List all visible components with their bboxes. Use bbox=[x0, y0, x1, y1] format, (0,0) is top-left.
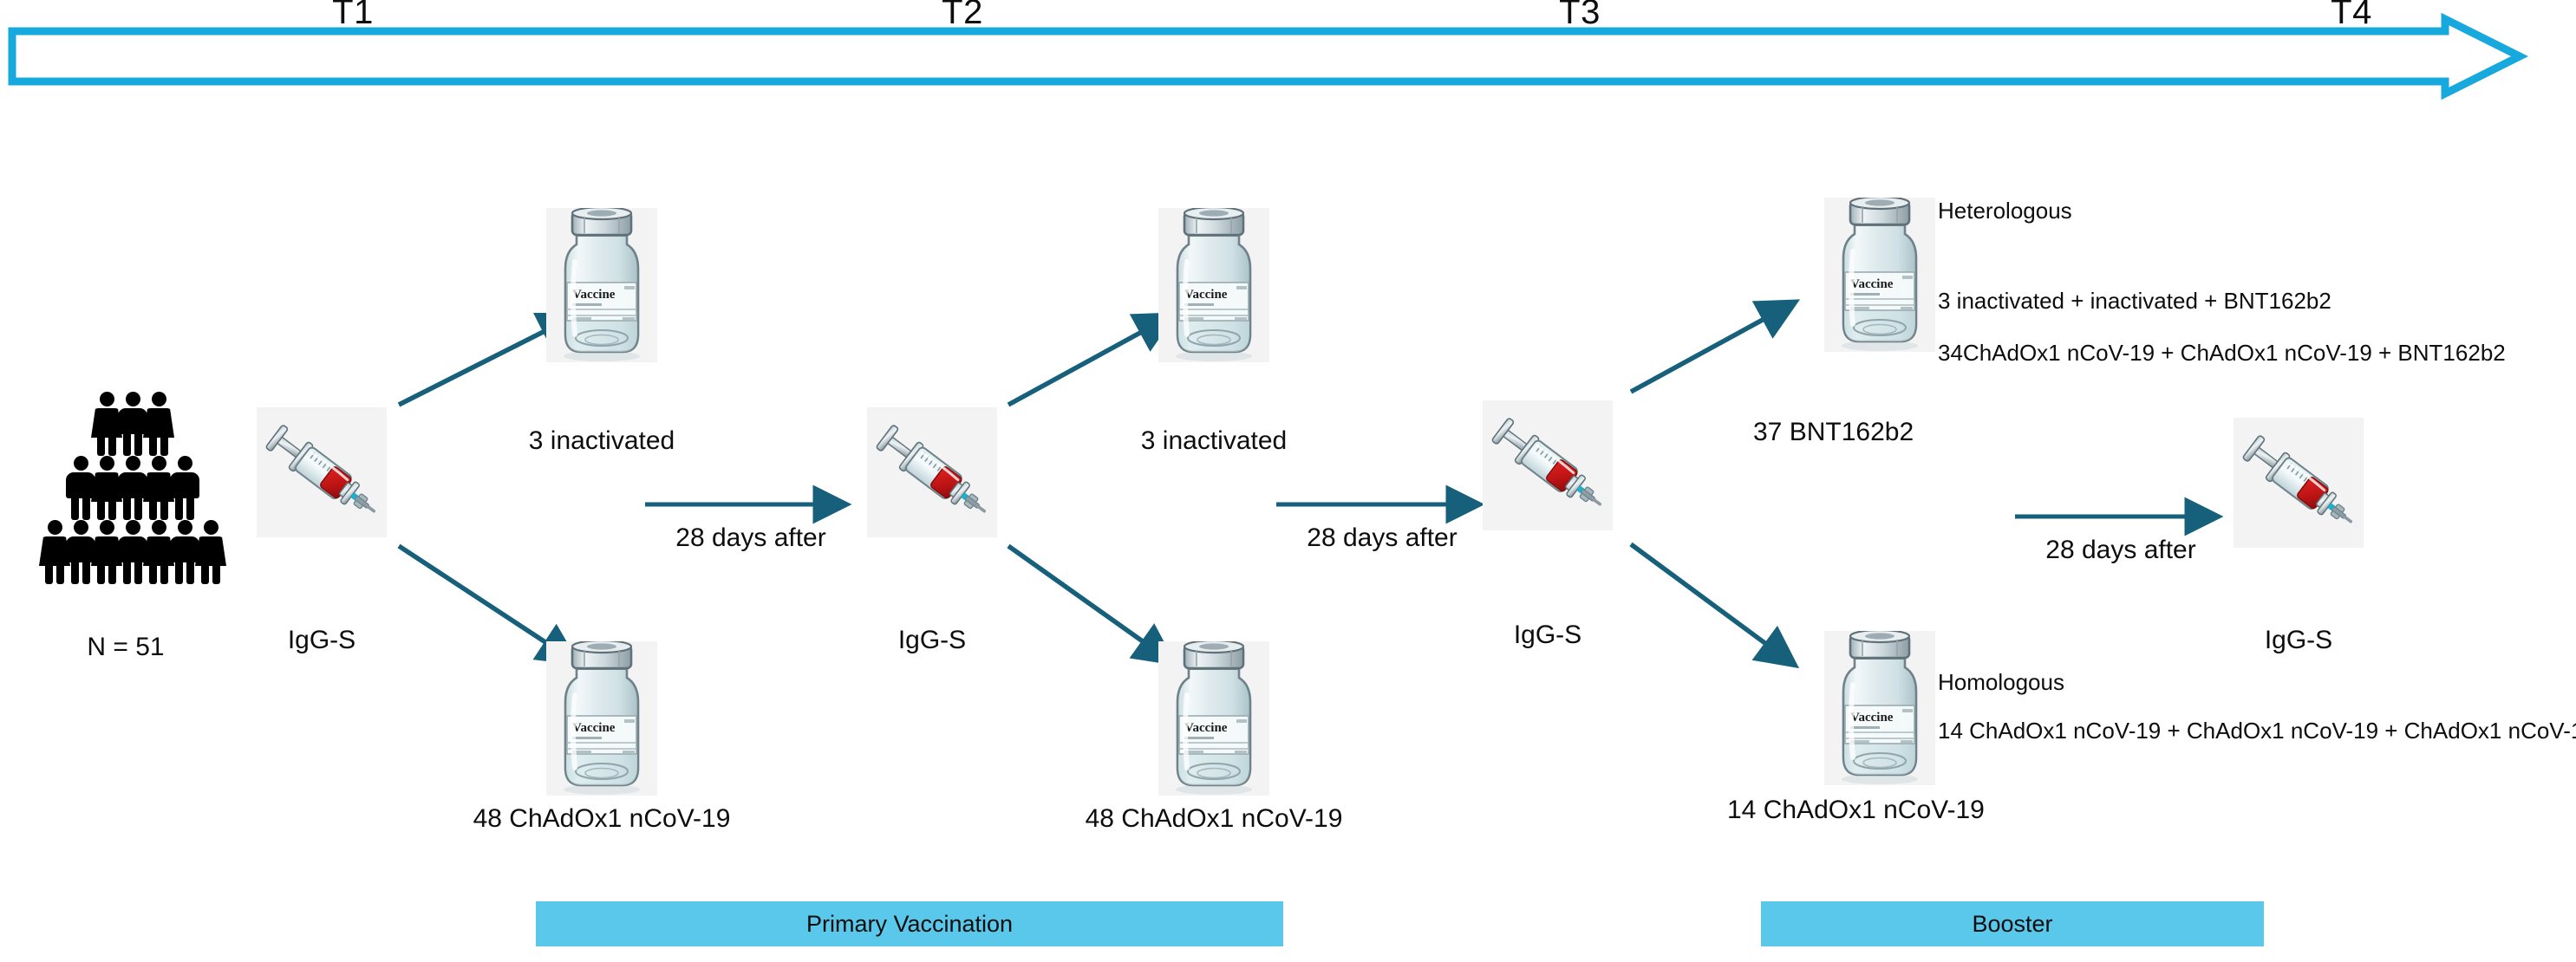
booster-bottom-group-title: Homologous bbox=[1938, 669, 2064, 695]
person-icon bbox=[195, 520, 226, 584]
assay-icon-plate-t4 bbox=[2234, 418, 2364, 548]
booster-top-group-title: Heterologous bbox=[1938, 198, 2072, 224]
interval-label-t3-t4: 28 days after bbox=[2045, 536, 2195, 565]
timeline-tick-t2: T2 bbox=[942, 0, 983, 29]
vial-plate-dose1-top bbox=[546, 208, 657, 362]
assay-label-t1: IgG-S bbox=[288, 626, 355, 655]
interval-label-t1-t2: 28 days after bbox=[675, 523, 825, 553]
vaccine-vial-icon bbox=[1158, 641, 1269, 796]
timeline-arrow-icon bbox=[0, 24, 2576, 88]
cohort-group bbox=[24, 392, 241, 591]
booster-top-regimen-1: 3 inactivated + inactivated + BNT162b2 bbox=[1938, 288, 2331, 314]
cohort-row bbox=[24, 520, 241, 584]
interval-arrow-t3-t4 bbox=[2013, 506, 2230, 527]
syringe-blood-icon bbox=[1483, 400, 1613, 530]
timeline-tick-t4: T4 bbox=[2331, 0, 2372, 29]
vial-plate-booster-bottom bbox=[1824, 631, 1935, 785]
vial-plate-dose2-top bbox=[1158, 208, 1269, 362]
dose2-top-label: 3 inactivated bbox=[1141, 426, 1287, 456]
vaccine-vial-icon bbox=[1824, 198, 1935, 352]
branch-arrow-t3-top bbox=[1627, 286, 1813, 399]
booster-bottom-regimen-1: 14 ChAdOx1 nCoV-19 + ChAdOx1 nCoV-19 + C… bbox=[1938, 718, 2576, 744]
cohort-row bbox=[24, 456, 241, 520]
cohort-row bbox=[24, 392, 241, 456]
interval-label-t2-t3: 28 days after bbox=[1307, 523, 1457, 553]
syringe-blood-icon bbox=[867, 407, 997, 537]
vaccine-vial-icon bbox=[546, 641, 657, 796]
phase-banner-booster-label: Booster bbox=[1972, 911, 2052, 938]
vial-plate-dose1-bottom bbox=[546, 641, 657, 796]
assay-label-t2: IgG-S bbox=[898, 626, 966, 655]
vaccine-vial-icon bbox=[1824, 631, 1935, 785]
dose1-bottom-label: 48 ChAdOx1 nCoV-19 bbox=[473, 804, 731, 834]
timeline: T1 T2 T3 T4 bbox=[0, 24, 2576, 88]
cohort-count-label: N = 51 bbox=[87, 633, 164, 662]
booster-top-count-label: 37 BNT162b2 bbox=[1753, 418, 1914, 447]
phase-banner-booster: Booster bbox=[1761, 901, 2264, 946]
vaccine-vial-icon bbox=[546, 208, 657, 362]
branch-arrow-t3-bottom bbox=[1627, 536, 1813, 679]
interval-arrow-t1-t2 bbox=[643, 494, 858, 515]
vial-plate-dose2-bottom bbox=[1158, 641, 1269, 796]
dose1-top-label: 3 inactivated bbox=[529, 426, 675, 456]
person-icon bbox=[143, 392, 174, 456]
timeline-tick-t1: T1 bbox=[332, 0, 374, 29]
syringe-blood-icon bbox=[2234, 418, 2364, 548]
assay-icon-plate-t1 bbox=[257, 407, 387, 537]
assay-icon-plate-t2 bbox=[867, 407, 997, 537]
syringe-blood-icon bbox=[257, 407, 387, 537]
assay-icon-plate-t3 bbox=[1483, 400, 1613, 530]
assay-label-t4: IgG-S bbox=[2265, 626, 2332, 655]
booster-top-regimen-2: 34ChAdOx1 nCoV-19 + ChAdOx1 nCoV-19 + BN… bbox=[1938, 340, 2506, 366]
interval-arrow-t2-t3 bbox=[1275, 494, 1491, 515]
booster-bottom-count-label: 14 ChAdOx1 nCoV-19 bbox=[1727, 796, 1985, 825]
vial-plate-booster-top bbox=[1824, 198, 1935, 352]
timeline-tick-t3: T3 bbox=[1559, 0, 1601, 29]
assay-label-t3: IgG-S bbox=[1514, 621, 1581, 650]
dose2-bottom-label: 48 ChAdOx1 nCoV-19 bbox=[1086, 804, 1343, 834]
person-icon bbox=[169, 456, 200, 520]
phase-banner-primary-label: Primary Vaccination bbox=[806, 911, 1013, 938]
vaccine-vial-icon bbox=[1158, 208, 1269, 362]
phase-banner-primary-vaccination: Primary Vaccination bbox=[536, 901, 1283, 946]
